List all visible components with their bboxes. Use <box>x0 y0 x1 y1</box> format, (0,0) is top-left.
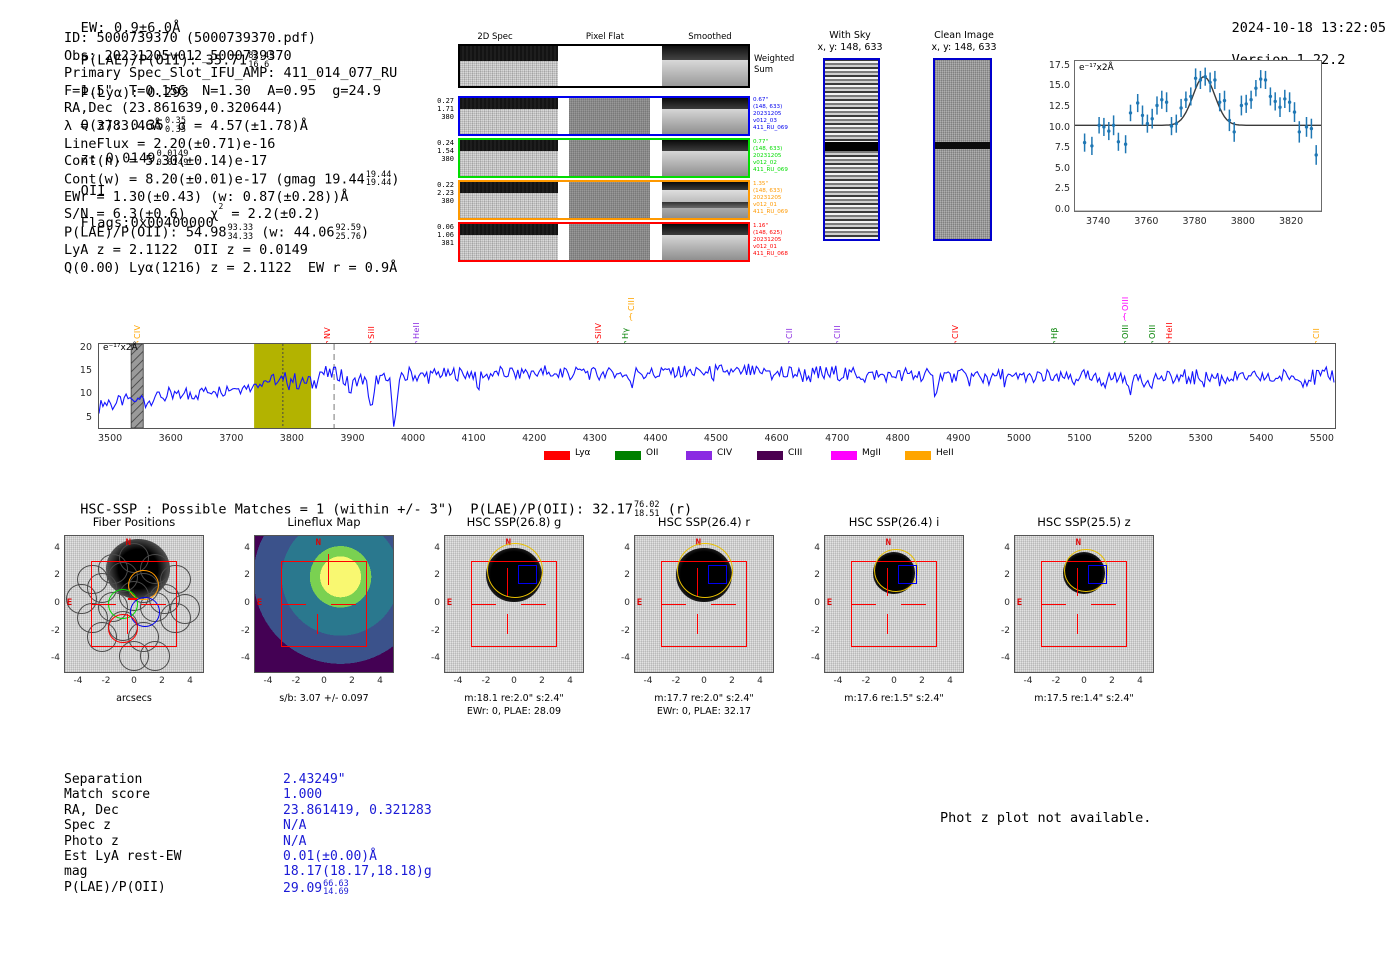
panel-x-tick: -4 <box>444 676 472 686</box>
emission-line-label: HeII <box>1165 309 1174 339</box>
legend-label: HeII <box>936 448 954 458</box>
x-tick-label: 4700 <box>815 433 859 444</box>
detection-info-block: ID: 5000739370 (5000739370.pdf) Obs: 202… <box>64 30 399 277</box>
strip-gap <box>650 98 662 134</box>
fiber-stats: 0.061.06381 <box>420 223 454 247</box>
fiber-strip <box>458 138 750 178</box>
panel-y-tick: -2 <box>228 626 250 636</box>
panel-y-tick: 0 <box>418 598 440 608</box>
fiber-meta-labels: 1.16"(148, 625)20231205v012_01411_RU_068 <box>753 223 797 258</box>
panel-x-tick: -2 <box>662 676 690 686</box>
panel-y-tick: -4 <box>38 653 60 663</box>
panel-x-tick: 0 <box>1070 676 1098 686</box>
panel-title: HSC SSP(25.5) z <box>994 515 1174 529</box>
fiber-meta-labels: 0.67"(148, 633)20231205v012_03411_RU_069 <box>753 97 797 132</box>
panel-x-tick: 2 <box>1098 676 1126 686</box>
report-timestamp: 2024-10-18 13:22:05 <box>1232 20 1386 36</box>
fiber-meta-line: 0.77" <box>753 139 797 146</box>
spectrum-unit-label: e⁻¹⁷x2Å <box>103 343 138 353</box>
y-tick-label: 10 <box>64 388 92 399</box>
info-id: ID: 5000739370 (5000739370.pdf) <box>64 30 399 48</box>
detail-row-label: Match score <box>64 787 181 802</box>
x-tick-label: 3800 <box>1225 216 1261 227</box>
x-tick-label: 4000 <box>391 433 435 444</box>
detail-row-value: 23.861419, 0.321283 <box>283 803 432 818</box>
cutout-image[interactable] <box>1014 535 1154 673</box>
fiber-stats: 0.222.23380 <box>420 181 454 205</box>
photz-unavailable-note: Phot z plot not available. <box>940 810 1151 826</box>
panel-x-tick: -4 <box>1014 676 1042 686</box>
x-tick-label: 3800 <box>270 433 314 444</box>
panel-x-tick: 0 <box>310 676 338 686</box>
detail-row-value: 2.43249" <box>283 772 432 787</box>
spectrum-svg <box>99 344 1335 428</box>
strip-gap <box>558 182 570 218</box>
fiber-2dspec <box>460 182 558 218</box>
emission-line-label: CIII <box>833 309 842 339</box>
panel-y-tick: 2 <box>38 570 60 580</box>
y-tick-label: 0.0 <box>1036 204 1070 215</box>
fiber-stats: 0.241.54380 <box>420 139 454 163</box>
column-header-pixelflat: Pixel Flat <box>550 32 660 42</box>
info-redshifts: LyA z = 2.1122 OII z = 0.0149 <box>64 242 399 260</box>
info-chi2-exp: 2 <box>218 202 223 211</box>
fiber-meta-labels: 0.77"(148, 633)20231205v012_02411_RU_069 <box>753 139 797 174</box>
y-tick-label: 2.5 <box>1036 183 1070 194</box>
fiber-2dspec <box>460 98 558 134</box>
strip-gap <box>650 224 662 260</box>
fiber-2dspec <box>460 224 558 260</box>
x-tick-label: 5200 <box>1118 433 1162 444</box>
fiber-meta-line: 20231205 <box>753 111 797 118</box>
detail-plae-value: 29.09 <box>283 881 322 896</box>
fiber-stat-value: 380 <box>420 197 454 205</box>
fiber-stat-value: 1.71 <box>420 105 454 113</box>
panel-y-tick: 0 <box>798 598 820 608</box>
fiber-strip <box>458 180 750 220</box>
legend-swatch <box>831 451 857 460</box>
cutout-title-clean: Clean Image x, y: 148, 633 <box>912 30 1016 54</box>
x-tick-label: 3760 <box>1128 216 1164 227</box>
x-tick-label: 3820 <box>1273 216 1309 227</box>
two-d-spectra-panel: 2D Spec Pixel Flat Smoothed WeightedSum … <box>440 32 780 260</box>
emission-line-label: HeII <box>412 309 421 339</box>
info-obs: Obs: 20231205v012_5000739370 <box>64 48 399 66</box>
panel-y-tick: -2 <box>988 626 1010 636</box>
fiber-stat-value: 381 <box>420 239 454 247</box>
panel-y-tick: 2 <box>228 570 250 580</box>
legend-swatch <box>615 451 641 460</box>
panel-x-tick: 4 <box>366 676 394 686</box>
info-sn-text: S/N = 6.3(±0.6) χ <box>64 206 218 222</box>
x-tick-label: 4500 <box>694 433 738 444</box>
info-radec: RA,Dec (23.861639,0.320644) <box>64 100 399 118</box>
info-continuum-wide: Cont(w) = 8.20(±0.01)e-17 (gmag 19.4419.… <box>64 171 399 189</box>
fiber-meta-line: (148, 633) <box>753 104 797 111</box>
y-tick-label: 15 <box>64 365 92 376</box>
info-ewr: EWr = 1.30(±0.43) (w: 0.87(±0.28))Å <box>64 189 399 207</box>
info-continuum-narrow: Cont(n) = 5.30(±0.14)e-17 <box>64 153 399 171</box>
detail-plae-lower: 14.69 <box>323 888 349 897</box>
panel-x-tick: -2 <box>282 676 310 686</box>
weighted-sum-2dspec <box>460 46 558 86</box>
detail-row-label: RA, Dec <box>64 803 181 818</box>
fiber-meta-line: (148, 625) <box>753 230 797 237</box>
line-fit-axes: e⁻¹⁷x2Å <box>1074 60 1322 212</box>
fiber-circle <box>160 603 190 633</box>
weighted-sum-strip <box>458 44 750 88</box>
fiber-smoothed <box>662 182 748 218</box>
fiber-stats: 0.271.71380 <box>420 97 454 121</box>
fiber-meta-line: (148, 633) <box>753 146 797 153</box>
fiber-meta-labels: 1.35"(148, 633)20231205v012_01411_RU_069 <box>753 181 797 216</box>
info-sn-chi2: S/N = 6.3(±0.6) χ2 = 2.2(±0.2) <box>64 206 399 224</box>
spectrum-axes: e⁻¹⁷x2Å <box>98 343 1336 429</box>
fiber-meta-line: v012_03 <box>753 118 797 125</box>
legend-label: Lyα <box>575 448 590 458</box>
strip-gap <box>558 224 570 260</box>
y-tick-label: 20 <box>64 342 92 353</box>
strip-gap <box>650 46 662 86</box>
match-detail-labels: SeparationMatch scoreRA, DecSpec zPhoto … <box>64 772 181 895</box>
info-chi2-value: = 2.2(±0.2) <box>223 206 321 222</box>
fiber-meta-line: 411_RU_069 <box>753 167 797 174</box>
fiber-meta-line: 0.67" <box>753 97 797 104</box>
fiber-meta-line: 411_RU_069 <box>753 209 797 216</box>
panel-title: HSC SSP(26.4) i <box>804 515 984 529</box>
strip-gap <box>558 46 570 86</box>
detail-row-value: N/A <box>283 834 432 849</box>
detail-row-label: Separation <box>64 772 181 787</box>
panel-y-tick: 4 <box>608 543 630 553</box>
cutout-image[interactable] <box>824 535 964 673</box>
detail-row-label: Est LyA rest-EW <box>64 849 181 864</box>
panel-y-tick: 0 <box>38 598 60 608</box>
panel-caption-primary: m:18.1 re:2.0" s:2.4" <box>419 693 609 704</box>
fiber-2dspec <box>460 140 558 176</box>
panel-x-tick: 0 <box>880 676 908 686</box>
info-contw-lower: 19.44 <box>366 179 392 188</box>
panel-caption-primary: arcsecs <box>39 693 229 704</box>
fiber-meta-line: 20231205 <box>753 195 797 202</box>
legend-label: CIV <box>717 448 732 458</box>
emission-line-label: SiIV <box>594 309 603 339</box>
fiber-meta-line: v012_01 <box>753 202 797 209</box>
panel-x-tick: 2 <box>718 676 746 686</box>
x-tick-label: 4200 <box>512 433 556 444</box>
cutout-image-with-sky <box>823 58 880 241</box>
panel-y-tick: -4 <box>418 653 440 663</box>
info-plae-wide: (w: 44.06 <box>261 225 334 241</box>
emission-line-label: CIII <box>627 281 636 311</box>
fiber-pixelflat <box>569 182 650 218</box>
x-tick-label: 5500 <box>1300 433 1344 444</box>
y-tick-label: 15.0 <box>1036 80 1070 91</box>
panel-caption-primary: m:17.5 re:1.4" s:2.4" <box>989 693 1179 704</box>
emission-line-label: Hγ <box>621 309 630 339</box>
line-fit-unit-label: e⁻¹⁷x2Å <box>1079 63 1114 73</box>
emission-line-label: SiII <box>367 309 376 339</box>
detail-row-label: Spec z <box>64 818 181 833</box>
panel-caption-secondary: EWr: 0, PLAE: 32.17 <box>609 706 799 717</box>
fiber-meta-line: 1.16" <box>753 223 797 230</box>
fiber-smoothed <box>662 224 748 260</box>
emission-line-label: CIV <box>951 309 960 339</box>
info-wavelength-sigma: λ = 3783.46Å σ = 4.57(±1.78)Å <box>64 118 399 136</box>
panel-y-tick: -2 <box>608 626 630 636</box>
fiber-meta-line: 411_RU_069 <box>753 125 797 132</box>
full-spectrum-plot: CIV{NV{SiII{HeII{CIII{SiIV{Hγ{CII{CIII{C… <box>64 275 1354 470</box>
panel-x-tick: -2 <box>852 676 880 686</box>
column-header-2dspec: 2D Spec <box>440 32 550 42</box>
x-tick-label: 3780 <box>1177 216 1213 227</box>
emission-line-label: CII <box>785 309 794 339</box>
panel-y-tick: 0 <box>988 598 1010 608</box>
x-tick-label: 4300 <box>573 433 617 444</box>
panel-x-tick: -4 <box>254 676 282 686</box>
y-tick-label: 12.5 <box>1036 101 1070 112</box>
y-tick-label: 10.0 <box>1036 122 1070 133</box>
emission-line-bracket: { <box>1122 312 1127 321</box>
panel-x-tick: -4 <box>634 676 662 686</box>
panel-y-tick: 4 <box>38 543 60 553</box>
strip-gap <box>650 182 662 218</box>
panel-title: Fiber Positions <box>44 515 224 529</box>
match-detail-values: 2.43249"1.00023.861419, 0.321283N/AN/A0.… <box>283 772 432 897</box>
info-plae-lower: 34.33 <box>228 233 254 242</box>
panel-y-tick: 4 <box>988 543 1010 553</box>
fiber-circle <box>140 641 170 671</box>
weighted-sum-smoothed <box>662 46 748 86</box>
panel-y-tick: -2 <box>38 626 60 636</box>
panel-x-tick: 2 <box>528 676 556 686</box>
panel-x-tick: -2 <box>472 676 500 686</box>
panel-y-tick: -4 <box>228 653 250 663</box>
panel-y-tick: -2 <box>798 626 820 636</box>
x-tick-label: 3600 <box>149 433 193 444</box>
fiber-stat-value: 1.54 <box>420 147 454 155</box>
panel-y-tick: 2 <box>418 570 440 580</box>
fiber-meta-line: v012_02 <box>753 160 797 167</box>
fiber-strip <box>458 96 750 136</box>
emission-line-label: NV <box>323 309 332 339</box>
panel-y-tick: -4 <box>988 653 1010 663</box>
panel-y-tick: -2 <box>418 626 440 636</box>
panel-y-tick: 4 <box>228 543 250 553</box>
panel-x-tick: -4 <box>64 676 92 686</box>
panel-x-tick: 4 <box>936 676 964 686</box>
panel-title: Lineflux Map <box>234 515 414 529</box>
y-tick-label: 5.0 <box>1036 163 1070 174</box>
x-tick-label: 4600 <box>755 433 799 444</box>
panel-x-tick: 4 <box>1126 676 1154 686</box>
cutout-title-text: Clean Image <box>934 30 994 41</box>
x-tick-label: 5400 <box>1239 433 1283 444</box>
emission-line-label: CII <box>1312 309 1321 339</box>
panel-y-tick: -4 <box>798 653 820 663</box>
cutout-image[interactable] <box>634 535 774 673</box>
y-tick-label: 5 <box>64 412 92 423</box>
cutout-coords-text: x, y: 148, 633 <box>931 42 996 53</box>
x-tick-label: 4400 <box>633 433 677 444</box>
panel-x-tick: -4 <box>824 676 852 686</box>
detail-row-label: Photo z <box>64 834 181 849</box>
fiber-stat-value: 380 <box>420 113 454 121</box>
panel-y-tick: 4 <box>798 543 820 553</box>
emission-line-label: OIII <box>1121 281 1130 311</box>
info-lineflux: LineFlux = 2.20(±0.71)e-16 <box>64 136 399 154</box>
cutout-panel-row: Fiber PositionsNE-4-4-2-2002244arcsecsLi… <box>0 505 1400 725</box>
strip-gap <box>558 140 570 176</box>
info-contw-text: Cont(w) = 8.20(±0.01)e-17 (gmag 19.44 <box>64 171 365 187</box>
fiber-strip <box>458 222 750 262</box>
fiber-pixelflat <box>569 98 650 134</box>
info-plae: P(LAE)/P(OII): 54.9893.3334.33 (w: 44.06… <box>64 224 399 242</box>
panel-y-tick: 4 <box>418 543 440 553</box>
info-primary-slot: Primary Spec_Slot_IFU_AMP: 411_014_077_R… <box>64 65 399 83</box>
legend-swatch <box>686 451 712 460</box>
fiber-meta-line: 411_RU_068 <box>753 251 797 258</box>
sky-cutout-panel: With Sky x, y: 148, 633 Clean Image x, y… <box>800 30 1020 260</box>
fiber-meta-line: 1.35" <box>753 181 797 188</box>
x-tick-label: 4100 <box>452 433 496 444</box>
emission-line-label: OIII <box>1148 309 1157 339</box>
legend-swatch <box>905 451 931 460</box>
fiber-pixelflat <box>569 140 650 176</box>
x-tick-label: 4800 <box>876 433 920 444</box>
fiber-stat-value: 0.06 <box>420 223 454 231</box>
panel-y-tick: 2 <box>988 570 1010 580</box>
fiber-stat-value: 0.24 <box>420 139 454 147</box>
cutout-coords-text: x, y: 148, 633 <box>817 42 882 53</box>
detail-row-value: 18.17(18.17,18.18)g <box>283 864 432 879</box>
panel-x-tick: 4 <box>556 676 584 686</box>
x-tick-label: 4900 <box>936 433 980 444</box>
fiber-smoothed <box>662 98 748 134</box>
weighted-sum-label: WeightedSum <box>754 54 794 76</box>
cutout-image[interactable] <box>444 535 584 673</box>
info-plae-tail: ) <box>361 225 369 241</box>
panel-x-tick: -2 <box>1042 676 1070 686</box>
fiber-meta-line: 20231205 <box>753 153 797 160</box>
panel-x-tick: 4 <box>176 676 204 686</box>
fiber-stat-value: 2.23 <box>420 189 454 197</box>
info-seeing-throughput: F=1.5" T=0.156 N=1.30 A=0.95 g=24.9 <box>64 83 399 101</box>
fiber-smoothed <box>662 140 748 176</box>
detail-row-value: N/A <box>283 818 432 833</box>
legend-label: OII <box>646 448 658 458</box>
cutout-title-text: With Sky <box>829 30 870 41</box>
info-plae-wide-lower: 25.76 <box>335 233 361 242</box>
strip-gap <box>558 98 570 134</box>
detail-row-value: 1.000 <box>283 787 432 802</box>
x-tick-label: 5000 <box>997 433 1041 444</box>
legend-swatch <box>757 451 783 460</box>
cutout-image-clean <box>933 58 992 241</box>
legend-label: MgII <box>862 448 881 458</box>
fiber-stat-value: 1.06 <box>420 231 454 239</box>
panel-caption-primary: s/b: 3.07 +/- 0.097 <box>229 693 419 704</box>
x-tick-label: 3500 <box>88 433 132 444</box>
cutout-image[interactable] <box>64 535 204 673</box>
line-fit-plot: e⁻¹⁷x2Å 0.02.55.07.510.012.515.017.5 374… <box>1030 50 1330 265</box>
emission-line-label: Hβ <box>1050 309 1059 339</box>
emission-line-label: CIV <box>133 309 142 339</box>
panel-y-tick: 0 <box>228 598 250 608</box>
detail-row-value: 0.01(±0.00)Å <box>283 849 432 864</box>
y-tick-label: 17.5 <box>1036 60 1070 71</box>
legend-label: CIII <box>788 448 802 458</box>
legend-swatch <box>544 451 570 460</box>
panel-x-tick: 0 <box>690 676 718 686</box>
strip-gap <box>650 140 662 176</box>
x-tick-label: 3900 <box>330 433 374 444</box>
panel-x-tick: 2 <box>148 676 176 686</box>
panel-y-tick: 2 <box>798 570 820 580</box>
fiber-pixelflat <box>569 224 650 260</box>
panel-x-tick: 0 <box>120 676 148 686</box>
info-contw-tail: ) <box>391 171 399 187</box>
x-tick-label: 5300 <box>1179 433 1223 444</box>
detail-row-label: P(LAE)/P(OII) <box>64 880 181 895</box>
cutout-title-with-sky: With Sky x, y: 148, 633 <box>800 30 900 54</box>
panel-caption-primary: m:17.7 re:2.0" s:2.4" <box>609 693 799 704</box>
y-tick-label: 7.5 <box>1036 142 1070 153</box>
panel-caption-primary: m:17.6 re:1.5" s:2.4" <box>799 693 989 704</box>
fiber-stat-value: 380 <box>420 155 454 163</box>
panel-x-tick: 4 <box>746 676 774 686</box>
panel-y-tick: -4 <box>608 653 630 663</box>
panel-title: HSC SSP(26.8) g <box>424 515 604 529</box>
detail-row-label: mag <box>64 864 181 879</box>
fiber-stat-value: 0.22 <box>420 181 454 189</box>
x-tick-label: 5100 <box>1058 433 1102 444</box>
panel-caption-secondary: EWr: 0, PLAE: 28.09 <box>419 706 609 717</box>
panel-y-tick: 0 <box>608 598 630 608</box>
panel-x-tick: 2 <box>338 676 366 686</box>
panel-x-tick: -2 <box>92 676 120 686</box>
fiber-stat-value: 0.27 <box>420 97 454 105</box>
cutout-image[interactable] <box>254 535 394 673</box>
fiber-meta-line: v012_01 <box>753 244 797 251</box>
detail-row-value: 29.0966.6314.69 <box>283 880 432 897</box>
x-tick-label: 3700 <box>209 433 253 444</box>
panel-y-tick: 2 <box>608 570 630 580</box>
x-tick-label: 3740 <box>1080 216 1116 227</box>
panel-x-tick: 2 <box>908 676 936 686</box>
weighted-sum-pixelflat <box>569 46 650 86</box>
fiber-meta-line: 20231205 <box>753 237 797 244</box>
column-header-smoothed: Smoothed <box>655 32 765 42</box>
line-fit-svg <box>1075 61 1321 211</box>
fiber-meta-line: (148, 633) <box>753 188 797 195</box>
info-plae-value: P(LAE)/P(OII): 54.98 <box>64 225 227 241</box>
panel-title: HSC SSP(26.4) r <box>614 515 794 529</box>
panel-x-tick: 0 <box>500 676 528 686</box>
